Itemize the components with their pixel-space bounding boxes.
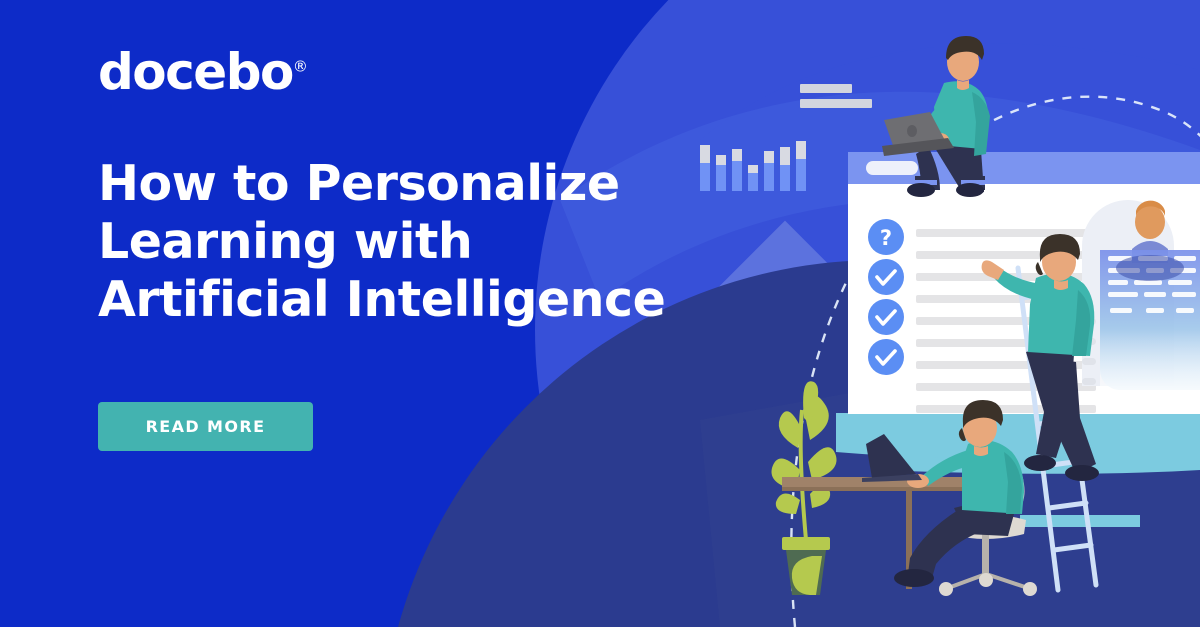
check-icon: [868, 339, 904, 375]
header-bars-icon: [800, 84, 872, 108]
docebo-logo[interactable]: docebo®: [98, 47, 308, 97]
browser-addressbar: [866, 161, 918, 175]
cyan-stripe: [1020, 515, 1140, 527]
read-more-button[interactable]: READ MORE: [98, 402, 313, 451]
svg-text:?: ?: [880, 226, 892, 250]
registered-mark-icon: ®: [293, 57, 308, 75]
check-icon: [868, 299, 904, 335]
promo-banner: ?: [0, 0, 1200, 627]
hero-text-column: docebo® How to Personalize Learning with…: [0, 0, 700, 627]
check-icon: [868, 259, 904, 295]
page-title: How to Personalize Learning with Artific…: [98, 155, 718, 328]
question-mark-icon: ?: [868, 219, 904, 255]
logo-wordmark: docebo: [98, 43, 293, 101]
